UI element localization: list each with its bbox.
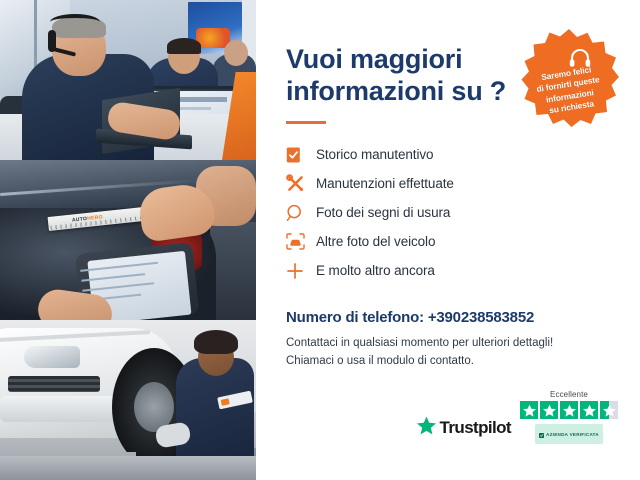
plus-icon xyxy=(286,262,316,280)
title-line-2: informazioni su ? xyxy=(286,76,506,106)
title-line-1: Vuoi maggiori xyxy=(286,44,462,74)
feature-label: Foto dei segni di usura xyxy=(316,205,450,220)
tools-cross-icon xyxy=(286,174,316,193)
verified-label: AZIENDA VERIFICATA xyxy=(546,432,599,437)
trustpilot-widget[interactable]: Trustpilot Eccellente xyxy=(417,390,618,444)
vehicle-inspection-photo: AUTOHERO xyxy=(0,160,256,320)
contact-line-1: Contattaci in qualsiasi momento per ulte… xyxy=(286,337,553,349)
list-item: Storico manutentivo xyxy=(286,140,640,169)
feature-label: Manutenzioni effettuate xyxy=(316,176,454,191)
workshop-lift-photo xyxy=(0,320,256,480)
phone-number: Numero di telefono: +390238583852 xyxy=(286,309,640,326)
list-item: Foto dei segni di usura xyxy=(286,198,640,227)
title-divider xyxy=(286,121,326,124)
verified-check-icon xyxy=(539,425,544,443)
contact-text: Contattaci in qualsiasi momento per ulte… xyxy=(286,335,640,371)
car-headlight xyxy=(24,346,80,368)
list-item: Altre foto del veicolo xyxy=(286,227,640,256)
magnifier-icon xyxy=(286,204,316,222)
verified-badge: AZIENDA VERIFICATA xyxy=(535,424,603,444)
car-scan-icon xyxy=(286,233,316,250)
list-item: Manutenzioni effettuate xyxy=(286,169,640,198)
colleague-far-head xyxy=(224,40,248,66)
workshop-floor xyxy=(0,456,256,480)
star-rating xyxy=(520,401,618,419)
list-item: E molto altro ancora xyxy=(286,256,640,285)
availability-seal: Saremo felici di fornirti queste informa… xyxy=(518,28,620,130)
star-filled xyxy=(580,401,598,419)
car-grille xyxy=(8,376,100,392)
star-filled xyxy=(560,401,578,419)
feature-list: Storico manutentivo Manutenzioni effettu… xyxy=(286,140,640,285)
feature-label: E molto altro ancora xyxy=(316,263,435,278)
colleague-mid-hair xyxy=(167,38,201,54)
content-panel: Vuoi maggiori informazioni su ? Storico … xyxy=(256,0,640,480)
photo-column: AUTOHERO xyxy=(0,0,256,480)
headset-band xyxy=(50,14,100,30)
star-filled xyxy=(520,401,538,419)
trustpilot-star-icon xyxy=(417,416,436,440)
car-bumper xyxy=(0,396,128,422)
rating-label: Eccellente xyxy=(550,390,588,399)
promo-banner: AUTOHERO xyxy=(0,0,640,480)
trustpilot-rating: Eccellente xyxy=(520,390,618,444)
mechanic-hair xyxy=(194,330,238,354)
trustpilot-logo: Trustpilot xyxy=(417,416,511,444)
feature-label: Altre foto del veicolo xyxy=(316,234,435,249)
contact-line-2: Chiamaci o usa il modulo di contatto. xyxy=(286,355,474,367)
star-filled xyxy=(540,401,558,419)
feature-label: Storico manutentivo xyxy=(316,147,433,162)
star-half xyxy=(600,401,618,419)
trustpilot-wordmark: Trustpilot xyxy=(440,418,511,438)
call-center-photo xyxy=(0,0,256,160)
clipboard-check-icon xyxy=(286,146,316,163)
